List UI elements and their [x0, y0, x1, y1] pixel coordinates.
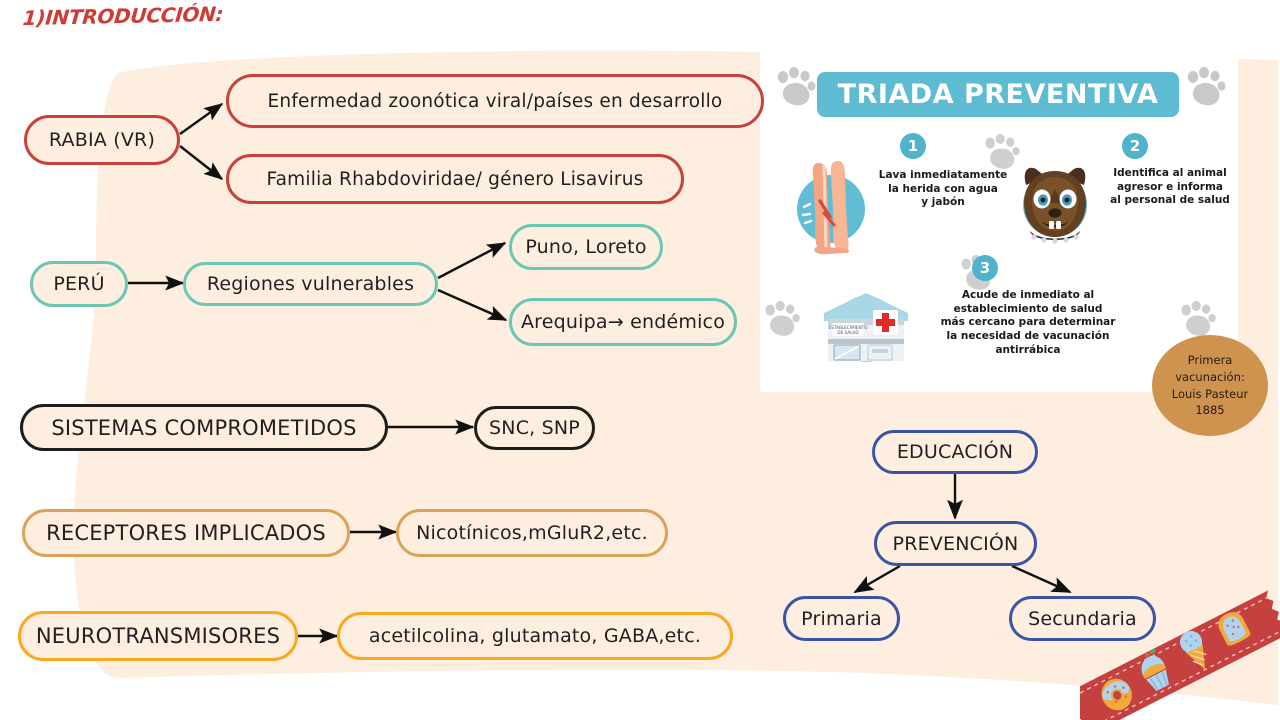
node-rabia-root[interactable]: RABIA (VR): [24, 115, 180, 165]
node-snc-snp[interactable]: SNC, SNP: [474, 406, 595, 450]
paw-print-icon: [1178, 300, 1218, 340]
node-arequipa-endemico[interactable]: Arequipa→ endémico: [509, 298, 737, 346]
step-number-badge: 2: [1122, 133, 1148, 159]
node-label: Regiones vulnerables: [207, 273, 414, 295]
node-label: Familia Rhabdoviridae/ género Lisavirus: [267, 169, 644, 190]
node-rabia-child-1[interactable]: Enfermedad zoonótica viral/países en des…: [226, 74, 764, 128]
node-receptores-implicados[interactable]: RECEPTORES IMPLICADOS: [22, 509, 350, 557]
node-label: SNC, SNP: [489, 417, 580, 439]
node-receptores-detalle[interactable]: Nicotínicos,mGluR2,etc.: [396, 509, 668, 557]
page-title: 1)INTRODUCCIÓN:: [22, 2, 225, 30]
node-regiones-vulnerables[interactable]: Regiones vulnerables: [183, 262, 438, 306]
pasteur-line-3: Louis Pasteur: [1172, 386, 1248, 403]
node-label: RABIA (VR): [49, 129, 155, 151]
node-rabia-child-2[interactable]: Familia Rhabdoviridae/ género Lisavirus: [226, 154, 684, 204]
pasteur-line-4: 1885: [1172, 402, 1248, 419]
infographic-banner: TRIADA PREVENTIVA: [817, 72, 1179, 117]
pasteur-line-2: vacunación:: [1172, 369, 1248, 386]
node-label: Primaria: [801, 608, 882, 630]
node-label: NEUROTRANSMISORES: [36, 624, 280, 648]
node-label: SISTEMAS COMPROMETIDOS: [51, 416, 356, 440]
node-primaria[interactable]: Primaria: [783, 596, 900, 641]
infographic-banner-title: TRIADA PREVENTIVA: [838, 79, 1159, 110]
health-facility-icon: ESTABLECIMIENTO DE SALUD: [812, 283, 922, 375]
node-sistemas-comprometidos[interactable]: SISTEMAS COMPROMETIDOS: [20, 404, 388, 451]
mindmap-canvas: 1)INTRODUCCIÓN: RABIA (VR): [0, 0, 1280, 720]
step-description: Acude de inmediato al establecimiento de…: [918, 289, 1138, 357]
node-label: RECEPTORES IMPLICADOS: [46, 521, 326, 545]
node-puno-loreto[interactable]: Puno, Loreto: [509, 224, 663, 270]
node-label: Puno, Loreto: [525, 236, 646, 258]
triada-preventiva-infographic: TRIADA PREVENTIVA 1 Lava inmediatamente …: [760, 47, 1238, 392]
svg-text:DE SALUD: DE SALUD: [837, 330, 858, 335]
step-number-badge: 1: [900, 133, 926, 159]
step-description: Identifica al animal agresor e informa a…: [1100, 167, 1238, 208]
paw-print-icon: [774, 67, 818, 109]
step-number: 1: [908, 137, 918, 155]
paw-print-icon: [1184, 67, 1228, 109]
pasteur-note-badge: Primera vacunación: Louis Pasteur 1885: [1152, 335, 1268, 436]
step-description: Lava inmediatamente la herida con agua y…: [878, 169, 1008, 210]
node-label: acetilcolina, glutamato, GABA,etc.: [369, 625, 701, 647]
node-label: Nicotínicos,mGluR2,etc.: [416, 522, 648, 544]
step-number: 2: [1130, 137, 1140, 155]
step-number: 3: [980, 259, 990, 277]
node-peru-root[interactable]: PERÚ: [30, 261, 128, 307]
node-label: Enfermedad zoonótica viral/países en des…: [268, 91, 723, 112]
node-label: Arequipa→ endémico: [521, 311, 725, 333]
step-number-badge: 3: [972, 255, 998, 281]
washi-tape-decoration: [1080, 560, 1280, 720]
node-neurotransmisores-detalle[interactable]: acetilcolina, glutamato, GABA,etc.: [337, 612, 733, 660]
node-prevencion[interactable]: PREVENCIÓN: [874, 521, 1037, 566]
dog-head-icon: [1012, 161, 1098, 249]
pasteur-line-1: Primera: [1172, 352, 1248, 369]
node-educacion[interactable]: EDUCACIÓN: [872, 430, 1038, 474]
node-label: PERÚ: [53, 273, 104, 295]
node-label: PREVENCIÓN: [893, 533, 1019, 555]
wounded-leg-icon: [786, 157, 876, 257]
node-neurotransmisores[interactable]: NEUROTRANSMISORES: [18, 611, 298, 661]
paw-print-icon: [762, 300, 802, 340]
node-label: EDUCACIÓN: [897, 441, 1013, 463]
